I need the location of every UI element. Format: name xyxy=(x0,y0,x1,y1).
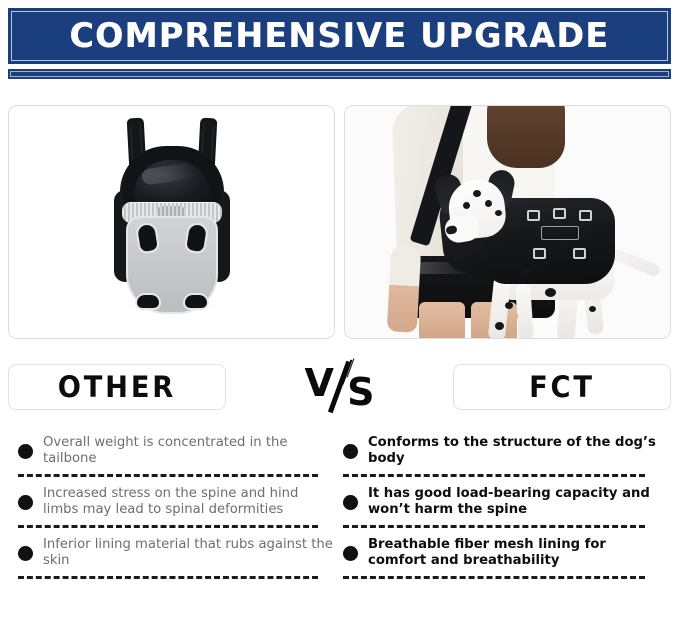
bullet-dot-icon xyxy=(343,546,358,561)
bullet-dot-icon xyxy=(343,495,358,510)
list-item-label: Overall weight is concentrated in the ta… xyxy=(43,435,336,468)
dashed-separator xyxy=(18,576,318,579)
dog-eye-left xyxy=(463,202,470,209)
list-item-label: It has good load-bearing capacity and wo… xyxy=(368,486,661,519)
carrier-foot-opening-left xyxy=(135,293,161,310)
list-item: It has good load-bearing capacity and wo… xyxy=(343,483,661,521)
carrier-logo-patch xyxy=(541,226,579,240)
person-arm xyxy=(387,245,421,332)
dog-spot xyxy=(589,306,596,312)
other-brand-label: OTHER xyxy=(58,373,176,402)
list-item-label: Increased stress on the spine and hind l… xyxy=(43,486,336,519)
other-brand-carrier-photo xyxy=(8,105,335,339)
comparison-columns: Overall weight is concentrated in the ta… xyxy=(0,432,679,585)
bullet-dot-icon xyxy=(18,546,33,561)
list-item: Conforms to the structure of the dog’s b… xyxy=(343,432,661,470)
dog-spot xyxy=(505,302,513,309)
other-feature-column: Overall weight is concentrated in the ta… xyxy=(18,432,336,585)
person-leg-left xyxy=(419,302,465,338)
list-item: Increased stress on the spine and hind l… xyxy=(18,483,336,521)
fct-brand-label: FCT xyxy=(529,373,595,402)
fct-carrier-lifestyle-photo xyxy=(344,105,671,339)
list-item: Breathable fiber mesh lining for comfort… xyxy=(343,534,661,572)
lifestyle-illustration xyxy=(345,106,670,338)
vs-letter-v: V xyxy=(305,364,334,402)
bullet-dot-icon xyxy=(18,495,33,510)
other-brand-box[interactable]: OTHER xyxy=(8,364,226,410)
bullet-dot-icon xyxy=(343,444,358,459)
header-banner: COMPREHENSIVE UPGRADE xyxy=(8,8,671,79)
dashed-separator xyxy=(18,474,318,477)
dashed-separator xyxy=(343,576,645,579)
carrier-hood-highlight xyxy=(141,162,195,185)
carrier-buckle-2 xyxy=(553,208,566,219)
list-item-label: Breathable fiber mesh lining for comfort… xyxy=(368,537,661,570)
banner-inner-border: COMPREHENSIVE UPGRADE xyxy=(11,11,668,61)
dog-spot xyxy=(495,210,502,216)
dashed-separator xyxy=(343,525,645,528)
comparison-header-row: OTHER V S FCT xyxy=(8,363,671,411)
dashed-separator xyxy=(18,525,318,528)
bullet-dot-icon xyxy=(18,444,33,459)
carrier-buckle-5 xyxy=(573,248,586,259)
dashed-separator xyxy=(343,474,645,477)
page-title: COMPREHENSIVE UPGRADE xyxy=(70,19,610,53)
person-hair xyxy=(487,106,565,168)
product-photo-row xyxy=(8,105,671,337)
carrier-leg-opening-right xyxy=(183,222,208,255)
dog-spot xyxy=(521,268,530,276)
carrier-body-panel xyxy=(126,216,218,314)
list-item-label: Conforms to the structure of the dog’s b… xyxy=(368,435,661,468)
carrier-buckle-1 xyxy=(527,210,540,221)
carrier-leg-opening-left xyxy=(134,222,159,255)
banner-main-bar: COMPREHENSIVE UPGRADE xyxy=(8,8,671,64)
pet-carrier-backpack-graphic xyxy=(112,118,232,323)
dog-eye-right xyxy=(485,200,492,207)
carrier-illustration xyxy=(9,106,334,338)
list-item: Overall weight is concentrated in the ta… xyxy=(18,432,336,470)
dog-spot xyxy=(545,288,556,297)
list-item: Inferior lining material that rubs again… xyxy=(18,534,336,572)
carrier-foot-opening-right xyxy=(183,293,209,310)
carrier-main-body-black xyxy=(487,198,615,284)
vs-letter-s: S xyxy=(347,373,374,411)
dog-spot xyxy=(495,322,504,330)
carrier-buckle-4 xyxy=(533,248,546,259)
vs-icon: V S xyxy=(303,360,377,414)
list-item-label: Inferior lining material that rubs again… xyxy=(43,537,336,570)
fct-brand-box[interactable]: FCT xyxy=(453,364,671,410)
banner-accent-bar xyxy=(8,69,671,79)
dog-spot xyxy=(473,190,481,197)
banner-accent-bar-inner xyxy=(10,71,669,77)
fct-feature-column: Conforms to the structure of the dog’s b… xyxy=(343,432,661,585)
carrier-buckle-3 xyxy=(579,210,592,221)
